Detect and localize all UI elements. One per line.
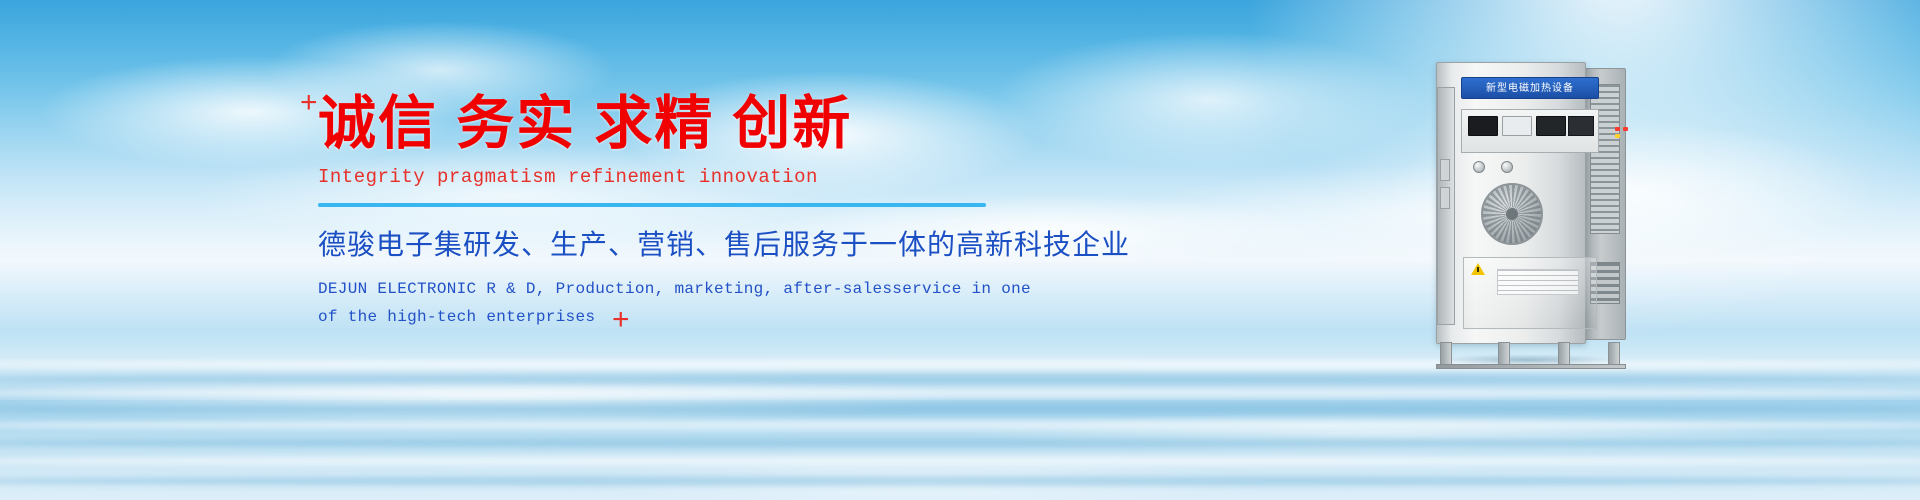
warning-triangle-icon (1471, 263, 1485, 275)
control-panel (1461, 109, 1599, 153)
leg (1608, 342, 1620, 366)
spec-plate (1497, 269, 1579, 295)
wave-line (0, 404, 1920, 414)
cabinet-legs (1436, 342, 1626, 368)
vent-grille-icon (1590, 84, 1620, 234)
port-icon (1440, 159, 1450, 181)
leg (1440, 342, 1452, 366)
leg (1558, 342, 1570, 366)
wave-line (0, 456, 1920, 466)
wave-line (0, 476, 1920, 486)
wave-line (0, 438, 1920, 448)
wave-line (0, 374, 1920, 384)
product-label: 新型电磁加热设备 (1461, 77, 1599, 99)
tagline-english-line-1: DEJUN ELECTRONIC R & D, Production, mark… (318, 275, 1038, 303)
leg (1498, 342, 1510, 366)
wave-line (0, 420, 1920, 430)
led-indicator-icon (1615, 127, 1620, 131)
water-surface (0, 352, 1920, 500)
port-icon (1440, 187, 1450, 209)
headline-english: Integrity pragmatism refinement innovati… (318, 166, 1038, 188)
wave-line (0, 388, 1920, 398)
banner-copy: 诚信 务实 求精 创新 Integrity pragmatism refinem… (318, 92, 1038, 331)
indicator-block (1536, 116, 1566, 136)
tagline-chinese: 德骏电子集研发、生产、营销、售后服务于一体的高新科技企业 (318, 223, 1038, 263)
led-indicator-icon (1623, 127, 1628, 131)
cabinet-front: 新型电磁加热设备 (1436, 62, 1586, 344)
divider-rule (318, 203, 986, 207)
plus-mark-icon: + (300, 88, 318, 118)
control-knob-icon (1501, 161, 1513, 173)
headline-chinese: 诚信 务实 求精 创新 (318, 92, 1038, 157)
control-knob-icon (1473, 161, 1485, 173)
base-rail (1436, 364, 1626, 369)
display-meter-icon (1468, 116, 1498, 136)
fan-grille-icon (1483, 185, 1541, 243)
tagline-english: DEJUN ELECTRONIC R & D, Production, mark… (318, 275, 1038, 331)
cooling-fan-icon (1481, 183, 1543, 245)
keypad-icon (1568, 116, 1594, 136)
product-image-induction-heater: 新型电磁加热设备 (1418, 62, 1628, 362)
analog-gauge-icon (1502, 116, 1532, 136)
tagline-english-line-2: of the high-tech enterprises (318, 303, 1038, 331)
led-indicator-icon (1615, 134, 1620, 138)
promo-banner: + + 诚信 务实 求精 创新 Integrity pragmatism ref… (0, 0, 1920, 500)
